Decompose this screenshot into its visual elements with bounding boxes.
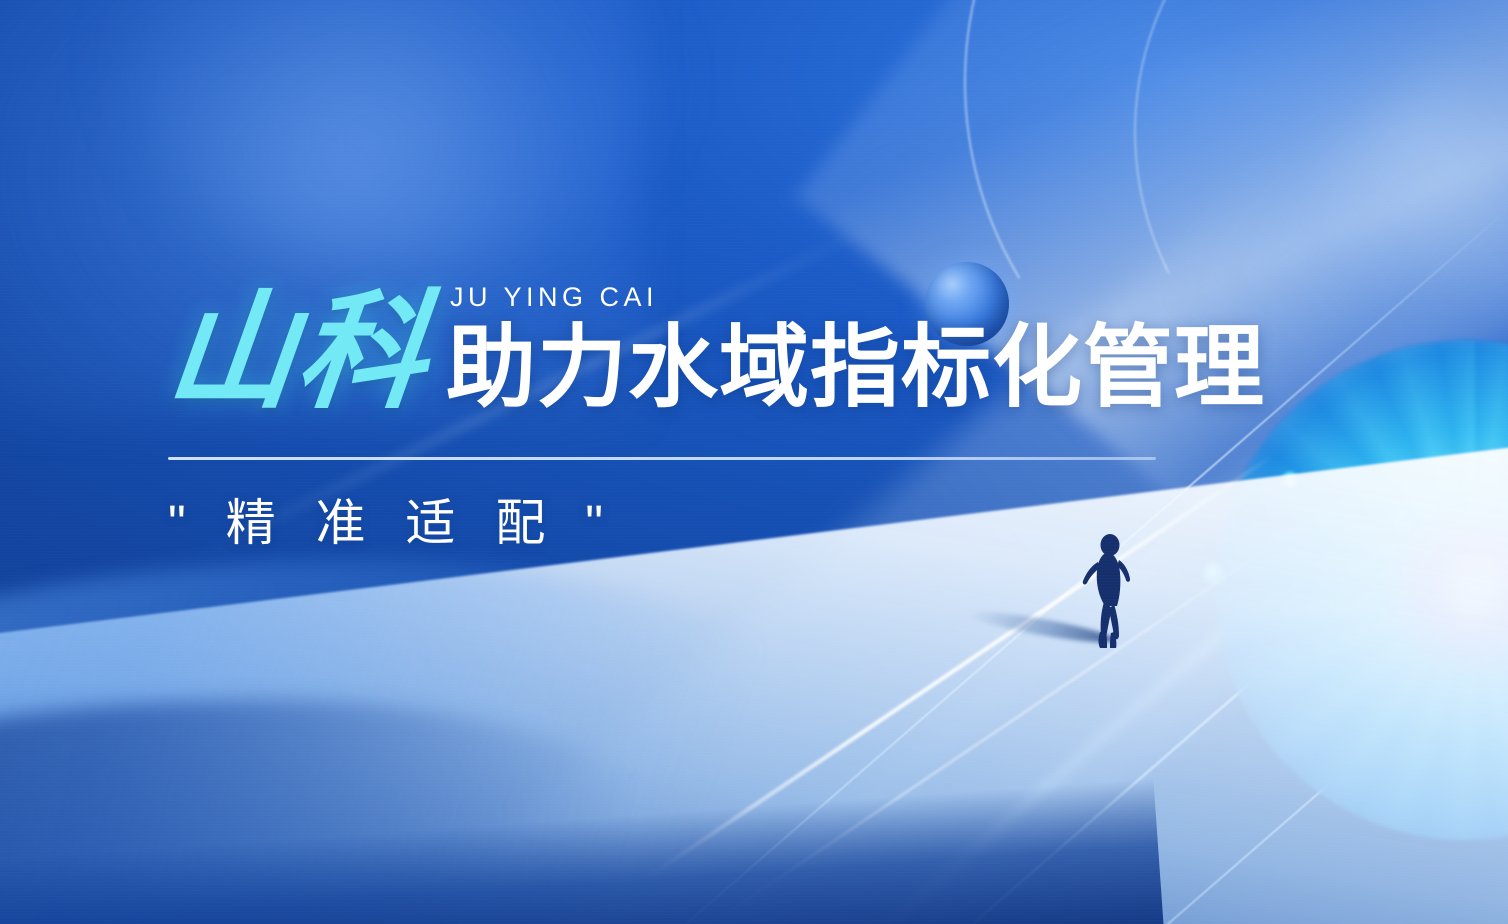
headline-column: JU YING CAI 助力水域指标化管理	[446, 284, 1265, 417]
title-row: 山科 JU YING CAI 助力水域指标化管理	[168, 284, 1388, 417]
divider-line	[168, 457, 1156, 460]
headline-text: 助力水域指标化管理	[446, 323, 1265, 413]
slogan-text: " 精 准 适 配 "	[168, 496, 1388, 551]
brand-pinyin: JU YING CAI	[450, 284, 658, 311]
text-content-block: 山科 JU YING CAI 助力水域指标化管理 " 精 准 适 配 "	[168, 284, 1388, 551]
banner-stage: 山科 JU YING CAI 助力水域指标化管理 " 精 准 适 配 "	[0, 0, 1508, 924]
brand-name: 山科	[161, 289, 434, 417]
